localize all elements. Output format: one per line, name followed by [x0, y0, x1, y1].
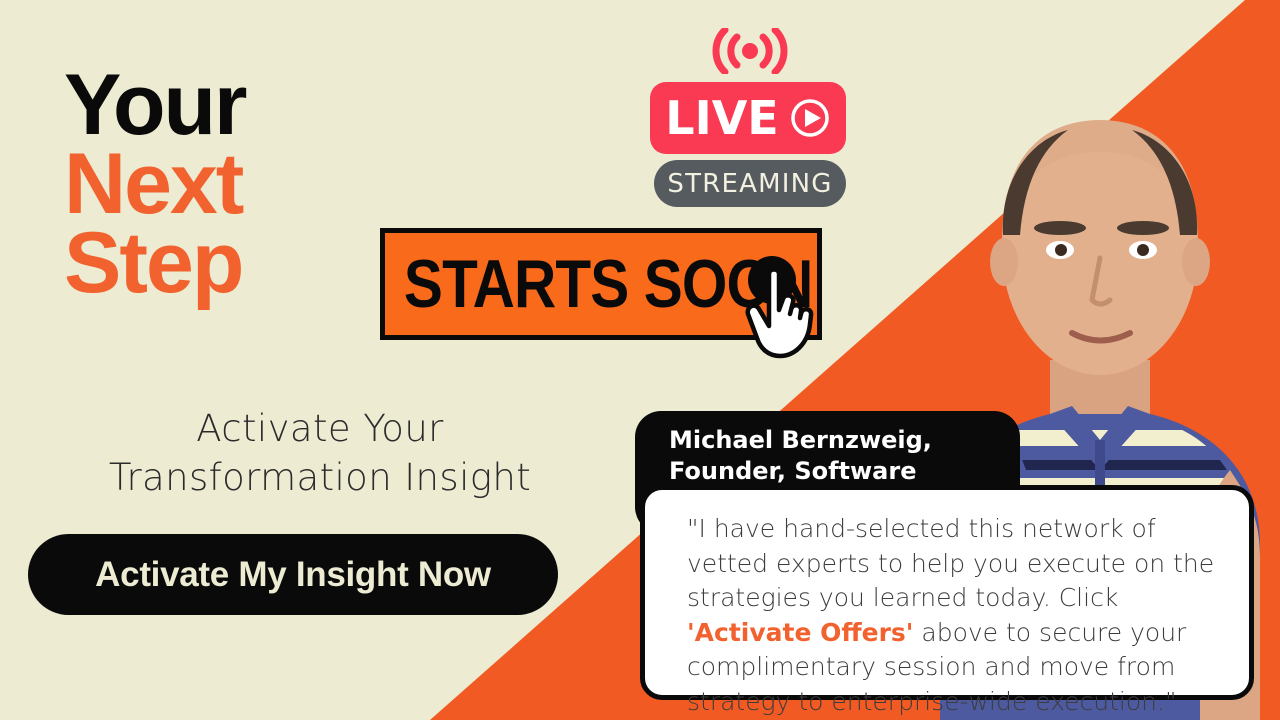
starts-soon-label: STARTS SOON: [385, 245, 813, 323]
headline-line-3: Step: [64, 224, 246, 303]
promo-slide: Your Next Step Activate Your Transformat…: [0, 0, 1280, 720]
play-circle-icon: [789, 97, 831, 139]
page-title: Your Next Step: [64, 66, 246, 303]
live-label: LIVE: [665, 95, 778, 141]
activate-insight-button[interactable]: Activate My Insight Now: [28, 534, 558, 615]
subtitle: Activate Your Transformation Insight: [0, 404, 640, 502]
starts-soon-banner[interactable]: STARTS SOON: [380, 228, 822, 340]
headline-line-2: Next: [64, 145, 246, 224]
quote-card: "I have hand-selected this network of ve…: [640, 485, 1254, 700]
streaming-label: STREAMING: [654, 160, 846, 207]
live-streaming-badge: LIVE STREAMING: [650, 28, 850, 207]
speaker-name: Michael Bernzweig,: [669, 425, 994, 456]
broadcast-icon: [710, 28, 790, 74]
live-indicator[interactable]: LIVE: [650, 82, 846, 154]
subtitle-line-1: Activate Your: [0, 404, 640, 453]
subtitle-line-2: Transformation Insight: [0, 453, 640, 502]
headline-line-1: Your: [64, 66, 246, 145]
quote-highlight: 'Activate Offers': [687, 618, 913, 647]
quote-part-1: "I have hand-selected this network of ve…: [687, 514, 1214, 612]
